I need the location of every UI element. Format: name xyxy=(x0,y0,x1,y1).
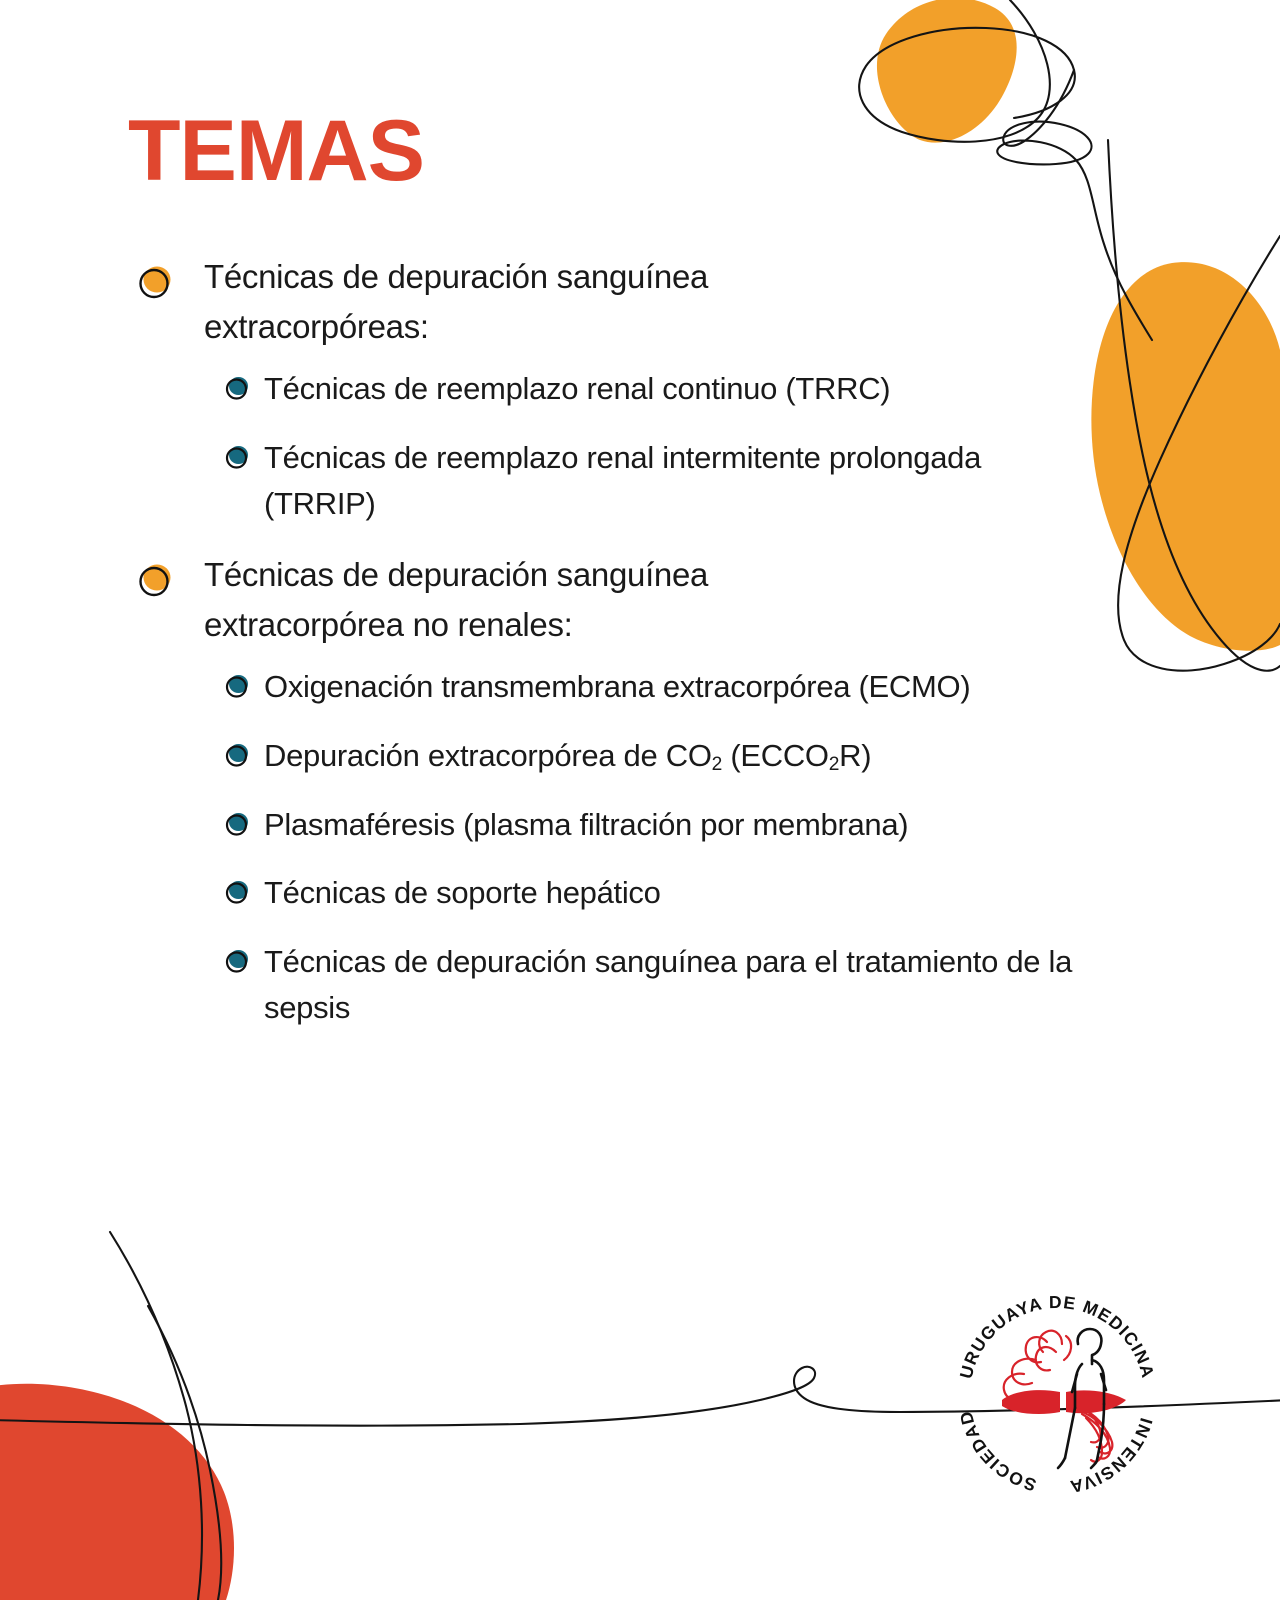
orange-circle-bullet-icon xyxy=(136,264,176,300)
subtopic-item-2-5: Técnicas de depuración sanguínea para el… xyxy=(216,939,1088,1032)
topic-label: Técnicas de depuración sanguínea extraco… xyxy=(204,252,864,352)
svg-text:URUGUAYA DE MEDICINA: URUGUAYA DE MEDICINA xyxy=(956,1292,1159,1381)
subtopic-item-2-2: Depuración extracorpórea de CO2 (ECCO2R) xyxy=(216,733,1088,780)
page-title: TEMAS xyxy=(128,108,424,194)
subtopic-item-2-3: Plasmaféresis (plasma filtración por mem… xyxy=(216,802,1088,849)
topics-list: Técnicas de depuración sanguínea extraco… xyxy=(128,252,1088,1054)
topic-label: Técnicas de depuración sanguínea extraco… xyxy=(204,550,864,650)
subtopics-list-2: Oxigenación transmembrana extracorpórea … xyxy=(216,664,1088,1032)
subtopic-item-2-1: Oxigenación transmembrana extracorpórea … xyxy=(216,664,1088,711)
subtopic-item-1-1: Técnicas de reemplazo renal continuo (TR… xyxy=(216,366,1088,413)
logo-red-band xyxy=(1002,1390,1060,1414)
subtopic-label: Técnicas de reemplazo renal intermitente… xyxy=(264,435,1074,528)
subtopic-item-2-4: Técnicas de soporte hepático xyxy=(216,870,1088,917)
svg-text:INTENSIVA: INTENSIVA xyxy=(1067,1416,1156,1497)
slide-canvas: TEMAS Técnicas de depuración sanguínea e… xyxy=(0,0,1280,1600)
subtopic-label: Técnicas de soporte hepático xyxy=(264,870,1074,917)
topic-item-2: Técnicas de depuración sanguínea extraco… xyxy=(128,550,1088,1032)
teal-circle-bullet-icon xyxy=(224,673,252,699)
subtopic-label: Técnicas de reemplazo renal continuo (TR… xyxy=(264,366,1074,413)
topic-item-1: Técnicas de depuración sanguínea extraco… xyxy=(128,252,1088,528)
sociedad-uruguaya-de-medicina-intensiva-logo: URUGUAYA DE MEDICINA INTENSIVA SOCIEDAD xyxy=(944,1282,1170,1508)
teal-circle-bullet-icon xyxy=(224,444,252,470)
teal-circle-bullet-icon xyxy=(224,742,252,768)
subtopic-label: Depuración extracorpórea de CO2 (ECCO2R) xyxy=(264,733,1074,780)
teal-circle-bullet-icon xyxy=(224,948,252,974)
slide-content: TEMAS Técnicas de depuración sanguínea e… xyxy=(0,0,1280,1600)
subtopics-list-1: Técnicas de reemplazo renal continuo (TR… xyxy=(216,366,1088,528)
subtopic-label: Plasmaféresis (plasma filtración por mem… xyxy=(264,802,1074,849)
subtopic-label: Técnicas de depuración sanguínea para el… xyxy=(264,939,1074,1032)
teal-circle-bullet-icon xyxy=(224,879,252,905)
svg-text:SOCIEDAD: SOCIEDAD xyxy=(955,1408,1038,1495)
subtopic-label: Oxigenación transmembrana extracorpórea … xyxy=(264,664,1074,711)
teal-circle-bullet-icon xyxy=(224,811,252,837)
subtopic-item-1-2: Técnicas de reemplazo renal intermitente… xyxy=(216,435,1088,528)
orange-circle-bullet-icon xyxy=(136,562,176,598)
teal-circle-bullet-icon xyxy=(224,375,252,401)
